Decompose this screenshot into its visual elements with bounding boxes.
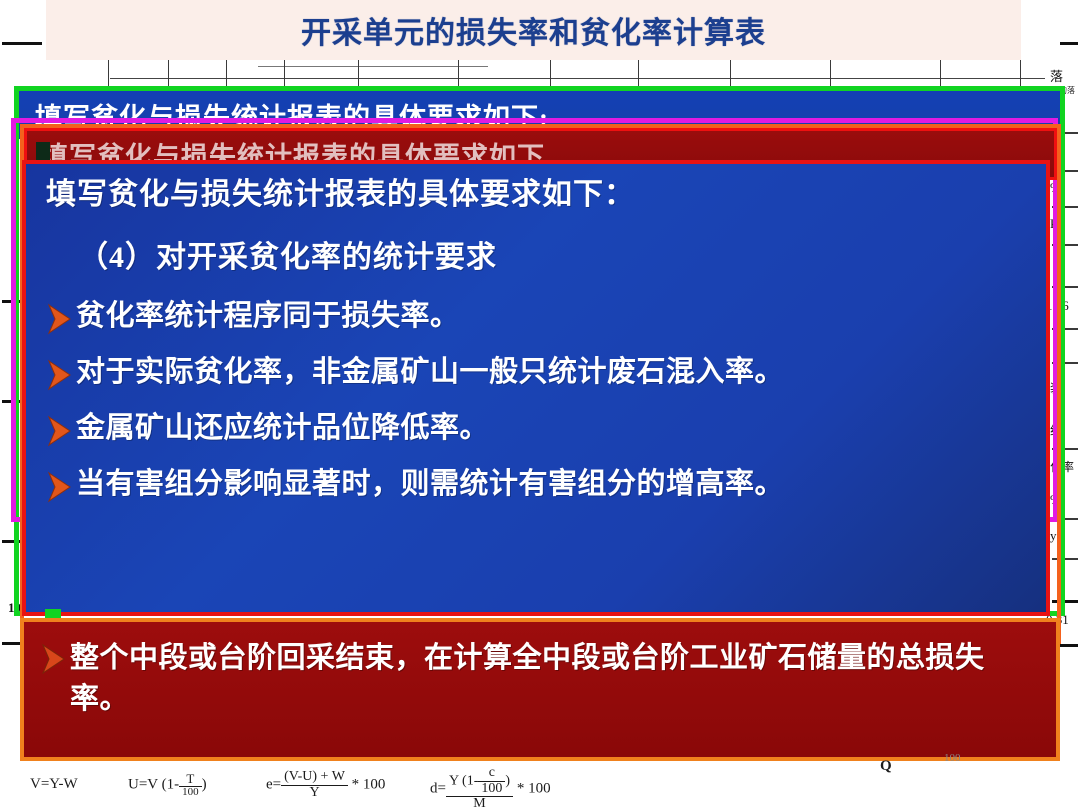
formula-u-denominator: 100 bbox=[179, 787, 202, 799]
formula-row: V=Y-W U=V (1-T100) e=(V-U) + WY * 100 d=… bbox=[0, 762, 1080, 810]
arrow-bullet-icon bbox=[46, 302, 72, 336]
right-col-fragment: 落 bbox=[1050, 66, 1080, 85]
layer-corner-marker bbox=[36, 142, 50, 162]
formula-e-numerator: (V-U) + W bbox=[281, 770, 348, 786]
formula-e-tail: * 100 bbox=[352, 777, 386, 793]
formula-d-num-post: ) bbox=[505, 773, 510, 788]
list-item-label: 当有害组分影响显著时，则需统计有害组分的增高率。 bbox=[76, 464, 784, 504]
formula-d-num-pre: Y (1- bbox=[449, 773, 478, 788]
formula-u-tail: ) bbox=[202, 777, 207, 793]
formula-d-inner-fraction: c100 bbox=[478, 766, 505, 796]
formula-u-fraction: T100 bbox=[179, 772, 202, 798]
formula-d: d=Y (1-c100)M * 100 bbox=[430, 766, 551, 810]
title-rule-left bbox=[2, 42, 42, 45]
formula-e: e=(V-U) + WY * 100 bbox=[266, 770, 385, 800]
formula-u-numerator: T bbox=[179, 772, 202, 787]
slide-stage: 开采单元的损失率和贫化率计算表 采下矿量回采率 采下损失率 采下损失量 可采损失… bbox=[0, 0, 1080, 810]
formula-hundred-label: 100 bbox=[944, 752, 961, 764]
formula-e-fraction: (V-U) + WY bbox=[281, 770, 348, 800]
panel-heading: 填写贫化与损失统计报表的具体要求如下： bbox=[46, 172, 1032, 217]
arrow-bullet-icon bbox=[46, 470, 72, 504]
formula-q-label: Q bbox=[880, 758, 892, 775]
arrow-bullet-icon bbox=[46, 414, 72, 448]
list-item-label: 对于实际贫化率，非金属矿山一般只统计废石混入率。 bbox=[76, 352, 784, 392]
main-content-panel[interactable]: 填写贫化与损失统计报表的具体要求如下： （4）对开采贫化率的统计要求 贫化率统计… bbox=[22, 160, 1050, 616]
list-item-label: 金属矿山还应统计品位降低率。 bbox=[76, 408, 489, 448]
formula-v-text: V=Y-W bbox=[30, 776, 78, 792]
formula-d-inner-denominator: 100 bbox=[478, 782, 505, 797]
formula-u: U=V (1-T100) bbox=[128, 772, 207, 798]
panel-subheading: （4）对开采贫化率的统计要求 bbox=[78, 235, 1032, 280]
list-item: 对于实际贫化率，非金属矿山一般只统计废石混入率。 bbox=[46, 352, 1032, 392]
formula-d-inner-numerator: c bbox=[478, 766, 505, 782]
arrow-bullet-icon bbox=[46, 358, 72, 392]
title-rule-right bbox=[1060, 42, 1078, 45]
bottom-content-panel[interactable]: 整个中段或台阶回采结束，在计算全中段或台阶工业矿石储量的总损失率。 bbox=[20, 618, 1060, 761]
list-item-label: 整个中段或台阶回采结束，在计算全中段或台阶工业矿石储量的总损失率。 bbox=[70, 638, 1042, 720]
formula-d-numerator: Y (1-c100) bbox=[446, 766, 513, 797]
list-item: 金属矿山还应统计品位降低率。 bbox=[46, 408, 1032, 448]
list-item: 贫化率统计程序同于损失率。 bbox=[46, 296, 1032, 336]
list-item: 当有害组分影响显著时，则需统计有害组分的增高率。 bbox=[46, 464, 1032, 504]
formula-d-tail: * 100 bbox=[517, 780, 551, 796]
formula-d-fraction: Y (1-c100)M bbox=[446, 766, 513, 810]
arrow-bullet-icon bbox=[40, 642, 66, 676]
list-item: 整个中段或台阶回采结束，在计算全中段或台阶工业矿石储量的总损失率。 bbox=[40, 638, 1042, 720]
formula-v: V=Y-W bbox=[30, 776, 78, 793]
page-title: 开采单元的损失率和贫化率计算表 bbox=[46, 2, 1021, 58]
formula-d-denominator: M bbox=[446, 797, 513, 810]
formula-e-denominator: Y bbox=[281, 786, 348, 801]
formula-d-lhs: d= bbox=[430, 780, 446, 796]
formula-u-lhs: U=V (1- bbox=[128, 777, 179, 793]
formula-e-lhs: e= bbox=[266, 777, 281, 793]
list-item-label: 贫化率统计程序同于损失率。 bbox=[76, 296, 460, 336]
